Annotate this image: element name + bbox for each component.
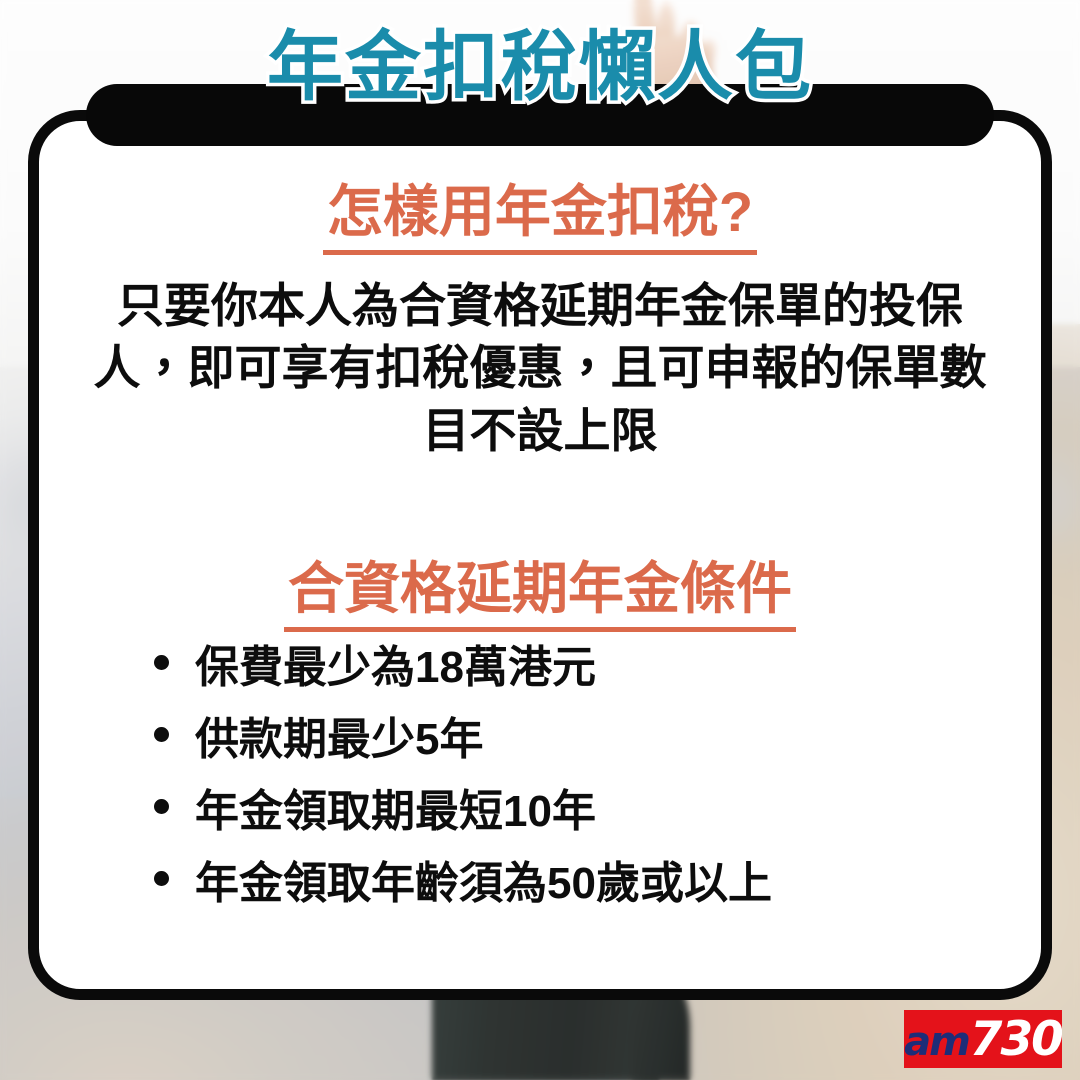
page-title: 年金扣稅懶人包 [0,30,1080,106]
list-item: 供款期最少5年 [62,718,1018,762]
am730-logo-number: 730 [970,1016,1062,1063]
bullet-dot-icon [154,727,169,742]
section-body-how-to: 只要你本人為合資格延期年金保單的投保人，即可享有扣稅優惠，且可申報的保單數目不設… [75,275,1005,463]
am730-logo-wordmark: am 730 [904,1016,1062,1063]
list-item-label: 保費最少為18萬港元 [195,646,596,690]
section-heading-conditions: 合資格延期年金條件 [62,557,1018,622]
am730-logo-prefix: am [904,1022,969,1062]
list-item: 年金領取年齡須為50歲或以上 [62,862,1018,906]
bullet-dot-icon [154,799,169,814]
conditions-list: 保費最少為18萬港元 供款期最少5年 年金領取期最短10年 年金領取年齡須為50… [62,646,1018,906]
list-item: 保費最少為18萬港元 [62,646,1018,690]
section-heading-how-to: 怎樣用年金扣稅? [62,180,1018,245]
list-item-label: 年金領取年齡須為50歲或以上 [195,862,772,906]
list-item-label: 供款期最少5年 [195,718,483,762]
list-item: 年金領取期最短10年 [62,790,1018,834]
am730-logo: am 730 [904,1010,1062,1068]
bullet-dot-icon [154,655,169,670]
list-item-label: 年金領取期最短10年 [195,790,596,834]
bullet-dot-icon [154,871,169,886]
section-heading-conditions-label: 合資格延期年金條件 [284,557,796,632]
card-content: 怎樣用年金扣稅? 只要你本人為合資格延期年金保單的投保人，即可享有扣稅優惠，且可… [28,110,1052,1000]
section-heading-how-to-label: 怎樣用年金扣稅? [323,180,757,255]
poster-canvas: 年金扣稅懶人包 怎樣用年金扣稅? 只要你本人為合資格延期年金保單的投保人，即可享… [0,0,1080,1080]
